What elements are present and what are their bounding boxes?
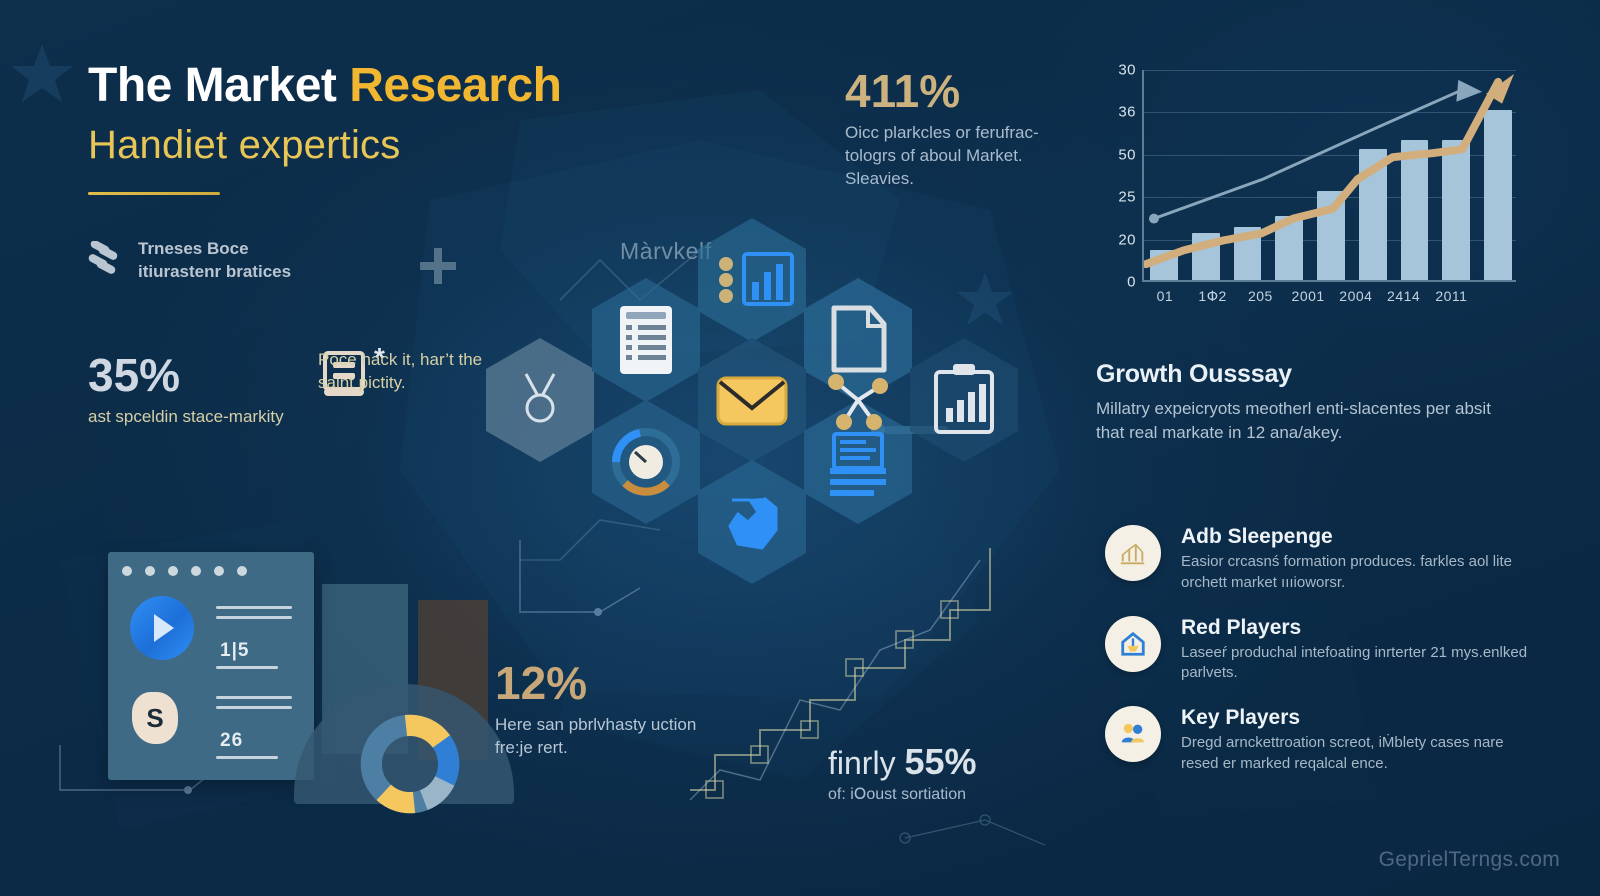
people-group-icon	[1105, 706, 1161, 762]
header-block: The Market Research Handiet expertics	[88, 62, 748, 195]
stat-12-caption: Here san pbrlvhasty uction fre:je rert.	[495, 714, 725, 760]
title-main: The Market	[88, 59, 349, 112]
growth-body: Millatry expeicryots meotherl enti-slace…	[1096, 397, 1516, 445]
stat-55-lead: finrly	[828, 745, 904, 781]
dash-line-4	[216, 696, 292, 699]
stacked-bars-logo-icon	[88, 241, 122, 281]
growth-summary: Growth Ousssay Millatry expeicryots meot…	[1096, 360, 1516, 445]
stat-55-number: 55%	[904, 741, 976, 782]
dash-line-3	[216, 666, 278, 669]
play-button-icon[interactable]	[130, 596, 194, 660]
chart-y-tick: 36	[1118, 104, 1136, 121]
stat-doc-block: Poce hack it, har’t the saint pictity.	[318, 335, 488, 395]
brand-row: Trneses Boce itiurastenr bratices	[88, 238, 291, 284]
chart-x-tick: 2414	[1387, 288, 1421, 305]
feature-list: Adb Sleepenge Easior crcasnś formation p…	[1105, 525, 1535, 797]
chart-y-tick: 50	[1118, 146, 1136, 163]
stat-35-block: 35% ast spceldin stace-markity	[88, 352, 338, 429]
stat-35-value: 35%	[88, 352, 338, 398]
chart-overlay-lines	[1144, 70, 1516, 280]
stat-55-caption: of: iՕoust sortiation	[828, 784, 1088, 804]
dash-line-2	[216, 616, 292, 619]
dash-line-5	[216, 706, 292, 709]
feature-body: Laseeŕ produchal intefoating inrterter 2…	[1181, 643, 1535, 684]
list-item[interactable]: Adb Sleepenge Easior crcasnś formation p…	[1105, 525, 1535, 594]
chart-y-tick: 25	[1118, 189, 1136, 206]
trend-line	[1146, 82, 1498, 264]
dashboard-mockup: 1|5 26 S	[108, 552, 314, 780]
dash-value-2: 26	[220, 730, 243, 752]
feature-body: Dregd arnckettroation screot, iṀblety ca…	[1181, 733, 1535, 774]
chart-x-tick: 205	[1244, 288, 1278, 305]
brand-line-1: Trneses Boce	[138, 238, 291, 261]
feature-text: Red Players Laseeŕ produchal intefoating…	[1181, 616, 1535, 685]
list-item[interactable]: Red Players Laseeŕ produchal intefoating…	[1105, 616, 1535, 685]
window-dots	[122, 566, 247, 576]
watermark: GeprielTerngs.com	[1379, 848, 1560, 872]
chart-x-tick: 2011	[1435, 288, 1469, 305]
bar-chart-circle-icon	[1105, 525, 1161, 581]
feature-title: Key Players	[1181, 706, 1535, 730]
dash-line-6	[216, 756, 278, 759]
hexagon-icon-cluster	[480, 200, 1040, 660]
secondary-arrow-head	[1456, 80, 1482, 102]
plus-decoration-icon	[420, 248, 456, 284]
envelope-mail-icon	[718, 378, 786, 424]
chart-x-labels: 011Փ22052001200424142011	[1148, 288, 1516, 305]
dashboard-card: 1|5 26 S	[108, 552, 314, 780]
server-rack-icon	[620, 306, 672, 374]
stat-411-value: 411%	[845, 68, 1085, 114]
stat-12-block: 12% Here san pbrlvhasty uction fre:je re…	[495, 660, 725, 760]
brand-text: Trneses Boce itiurastenr bratices	[138, 238, 291, 284]
donut-chart-icon	[352, 706, 468, 822]
gold-divider	[88, 192, 220, 195]
chart-x-tick: 01	[1148, 288, 1182, 305]
feature-title: Adb Sleepenge	[1181, 525, 1535, 549]
feature-text: Adb Sleepenge Easior crcasnś formation p…	[1181, 525, 1535, 594]
chart-x-tick: 2001	[1291, 288, 1325, 305]
chart-x-tick: 2004	[1339, 288, 1373, 305]
stat-12-value: 12%	[495, 660, 725, 706]
stat-55-value: finrly 55%	[828, 742, 1088, 782]
title-accent: Research	[349, 59, 561, 112]
stat-411-block: 411% Oicc plarkcles or ferufrac- tologrs…	[845, 68, 1085, 191]
stat-doc-caption: Poce hack it, har’t the saint pictity.	[318, 349, 488, 395]
chart-x-tick: 1Փ2	[1196, 288, 1230, 305]
page-title: The Market Research	[88, 62, 748, 110]
chart-y-tick: 30	[1118, 62, 1136, 79]
stat-411-caption: Oicc plarkcles or ferufrac- tologrs of a…	[845, 122, 1085, 191]
feature-body: Easior crcasnś formation produces. farkl…	[1181, 552, 1535, 593]
brand-line-2: itiurastenr bratices	[138, 261, 291, 284]
growth-bar-chart: 30365025200 011Փ22052001200424142011	[1096, 70, 1516, 320]
s-badge: S	[132, 692, 178, 744]
stat-35-caption: ast spceldin stace-markity	[88, 406, 338, 429]
page-subtitle: Handiet expertics	[88, 124, 748, 166]
infographic-canvas: The Market Research Handiet expertics Tr…	[0, 0, 1600, 896]
chart-x-tick	[1482, 288, 1516, 305]
feature-title: Red Players	[1181, 616, 1535, 640]
feature-text: Key Players Dregd arnckettroation screot…	[1181, 706, 1535, 775]
chart-y-axis: 30365025200	[1096, 70, 1136, 282]
chart-plot-area	[1142, 70, 1516, 282]
stat-55-block: finrly 55% of: iՕoust sortiation	[828, 742, 1088, 804]
dash-line-1	[216, 606, 292, 609]
growth-heading: Growth Ousssay	[1096, 360, 1516, 389]
list-item[interactable]: Key Players Dregd arnckettroation screot…	[1105, 706, 1535, 775]
home-balance-icon	[1105, 616, 1161, 672]
chart-y-tick: 0	[1127, 274, 1136, 291]
chart-y-tick: 20	[1118, 231, 1136, 248]
dash-value-1: 1|5	[220, 640, 249, 662]
